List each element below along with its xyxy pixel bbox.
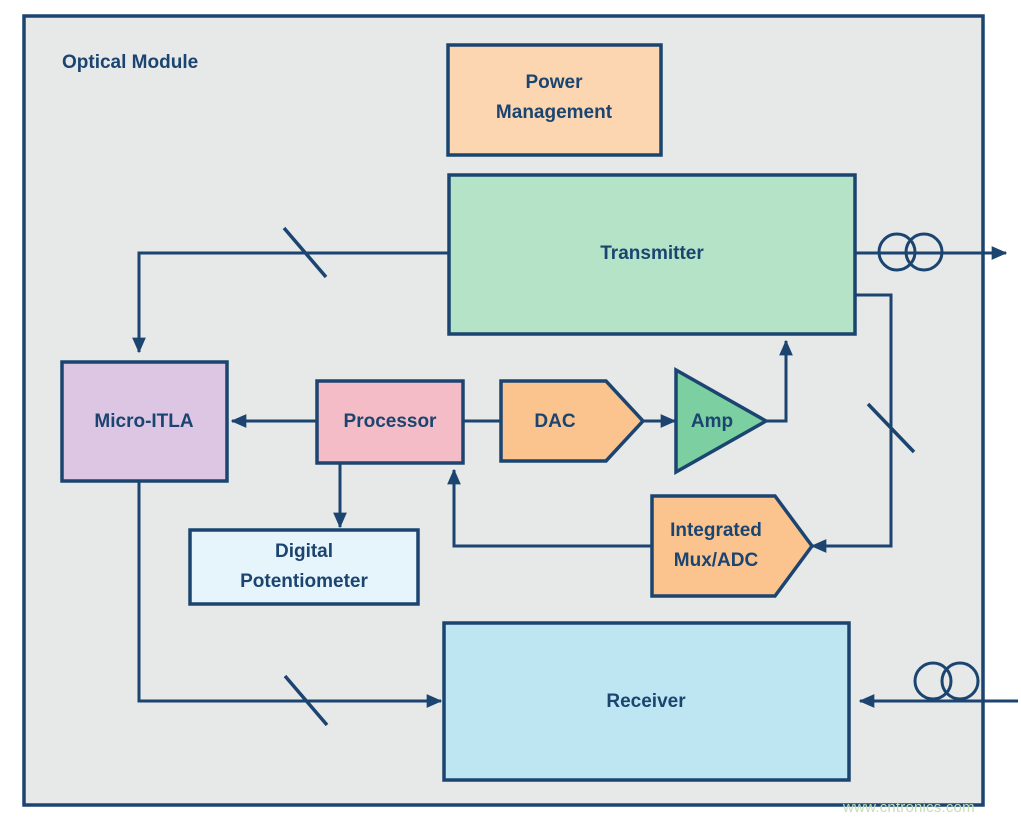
block-transmitter[interactable]: Transmitter (449, 175, 855, 334)
block-amp-label: Amp (691, 411, 733, 432)
block-micro-itla-label: Micro-ITLA (94, 411, 193, 432)
optical-module-diagram: Optical Module (0, 0, 1021, 821)
block-receiver[interactable]: Receiver (444, 623, 849, 780)
block-power-management[interactable]: Power Management (448, 45, 661, 155)
block-digital-potentiometer[interactable]: Digital Potentiometer (190, 530, 418, 604)
block-power-management-label-line1: Power (525, 72, 583, 93)
block-micro-itla[interactable]: Micro-ITLA (62, 362, 227, 481)
block-diagram-canvas: Optical Module (0, 0, 1021, 821)
block-dac-label: DAC (534, 411, 575, 432)
page-title: Optical Module (62, 52, 198, 73)
block-digital-potentiometer-label-line2: Potentiometer (240, 571, 368, 592)
block-integrated-mux-adc-label-line1: Integrated (670, 520, 762, 541)
block-transmitter-label: Transmitter (600, 243, 704, 264)
block-integrated-mux-adc[interactable]: Integrated Mux/ADC (652, 496, 812, 596)
block-processor-label: Processor (344, 411, 438, 432)
block-digital-potentiometer-label-line1: Digital (275, 541, 333, 562)
block-receiver-label: Receiver (606, 691, 686, 712)
block-processor[interactable]: Processor (317, 381, 463, 463)
block-integrated-mux-adc-label-line2: Mux/ADC (674, 550, 759, 571)
watermark: www.cntronics.com (842, 799, 975, 816)
block-power-management-label-line2: Management (496, 102, 613, 123)
